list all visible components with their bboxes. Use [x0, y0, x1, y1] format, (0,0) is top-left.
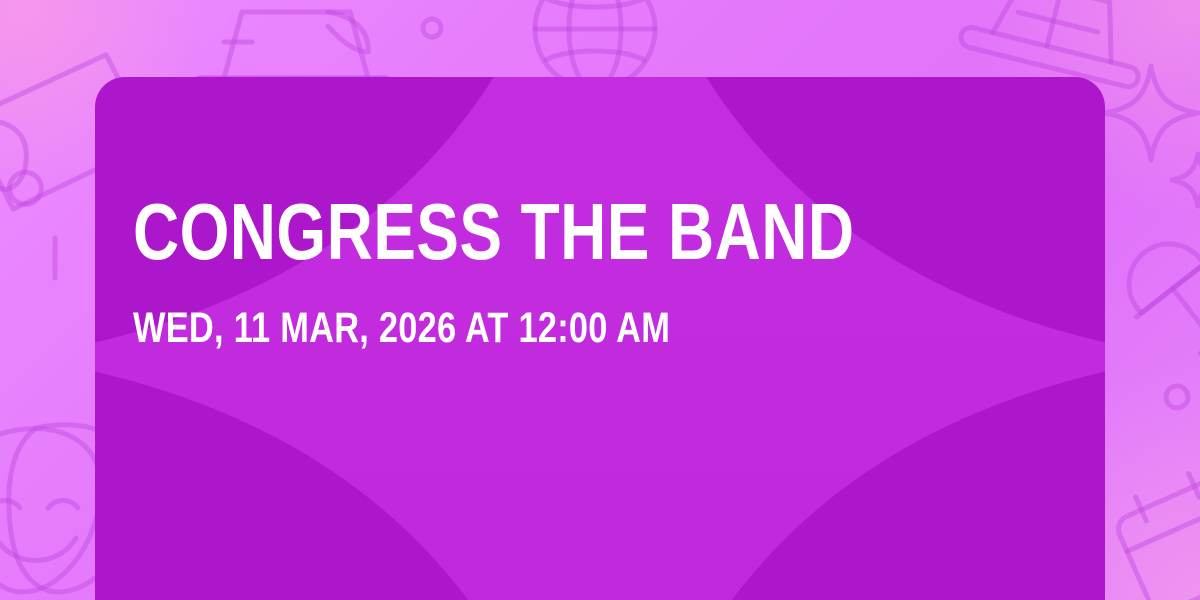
sparkle-icon — [1168, 150, 1200, 210]
confetti-icon — [1154, 374, 1200, 420]
event-card: Congress the Band Wed, 11 Mar, 2026 at 1… — [95, 77, 1105, 600]
confetti-icon — [412, 8, 452, 48]
microphone-icon — [1120, 218, 1200, 368]
card-text-block: Congress the Band Wed, 11 Mar, 2026 at 1… — [133, 195, 1065, 350]
confetti-icon — [40, 232, 70, 286]
calendar-icon — [1112, 466, 1200, 600]
event-datetime: Wed, 11 Mar, 2026 at 12:00 AM — [133, 269, 879, 350]
event-banner: Congress the Band Wed, 11 Mar, 2026 at 1… — [0, 0, 1200, 600]
page-title: Congress the Band — [133, 195, 879, 269]
